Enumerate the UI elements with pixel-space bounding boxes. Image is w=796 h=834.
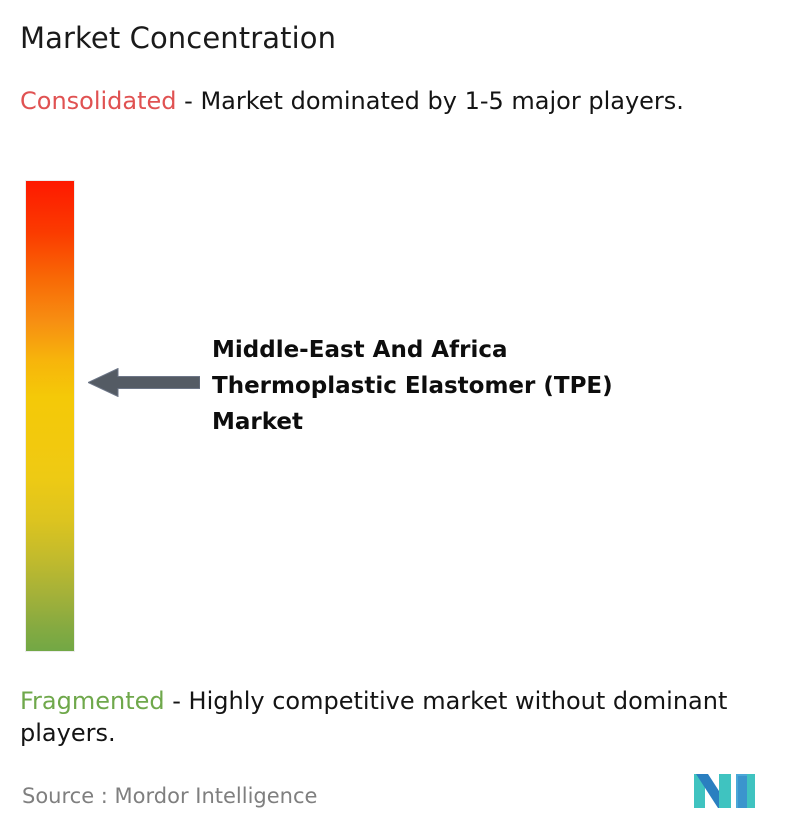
page-title: Market Concentration <box>20 20 336 56</box>
concentration-gradient-bar <box>26 181 74 651</box>
legend-term-consolidated: Consolidated <box>20 87 177 115</box>
mordor-intelligence-logo-icon <box>694 770 756 812</box>
callout-label: Middle-East And Africa Thermoplastic Ela… <box>212 332 642 440</box>
legend-term-fragmented: Fragmented <box>20 687 165 715</box>
legend-description-consolidated: - Market dominated by 1-5 major players. <box>177 87 684 115</box>
legend-fragmented: Fragmented - Highly competitive market w… <box>20 685 782 749</box>
legend-consolidated: Consolidated - Market dominated by 1-5 m… <box>20 85 768 117</box>
source-attribution: Source : Mordor Intelligence <box>22 782 317 810</box>
callout-arrow-icon <box>88 368 200 397</box>
